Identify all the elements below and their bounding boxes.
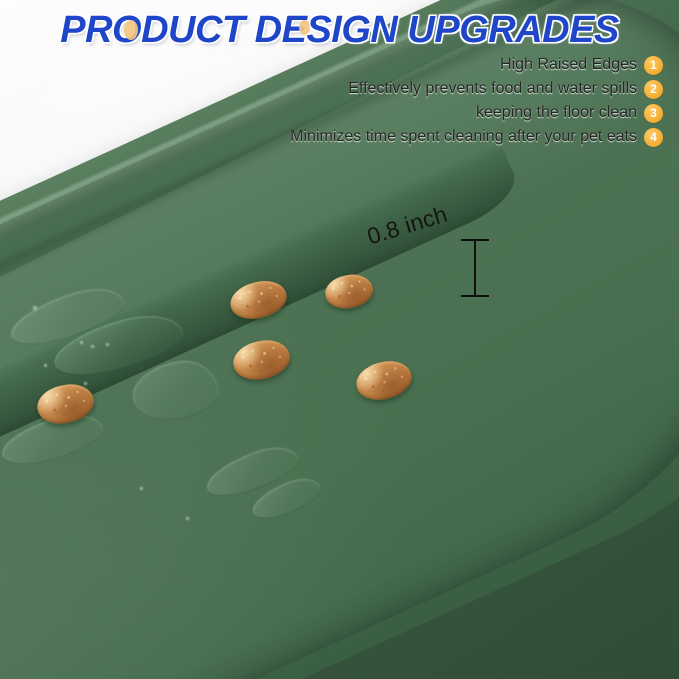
- product-infographic: 0.8 inch PRODUCT DESIGN UPGRADES High Ra…: [0, 0, 679, 679]
- water-droplet: [106, 343, 109, 346]
- feature-number-badge: 2: [644, 80, 663, 99]
- water-droplet: [33, 306, 37, 310]
- water-droplet: [140, 487, 143, 490]
- feature-label: Minimizes time spent cleaning after your…: [290, 126, 637, 148]
- feature-label: keeping the floor clean: [476, 102, 637, 124]
- dimension-bracket-icon: [455, 232, 495, 304]
- feature-list-item: High Raised Edges1: [23, 54, 663, 76]
- feature-list-item: keeping the floor clean3: [23, 102, 663, 124]
- feature-list-item: Minimizes time spent cleaning after your…: [23, 126, 663, 148]
- water-droplet: [80, 341, 83, 344]
- feature-list: High Raised Edges1Effectively prevents f…: [23, 54, 663, 150]
- feature-label: High Raised Edges: [500, 54, 637, 76]
- feature-number-badge: 3: [644, 104, 663, 123]
- feature-list-item: Effectively prevents food and water spil…: [23, 78, 663, 100]
- page-title: PRODUCT DESIGN UPGRADES: [0, 8, 679, 52]
- feature-label: Effectively prevents food and water spil…: [348, 78, 637, 100]
- water-droplet: [44, 364, 47, 367]
- feature-number-badge: 4: [644, 128, 663, 147]
- water-droplet: [91, 345, 94, 348]
- feature-number-badge: 1: [644, 56, 663, 75]
- water-droplet: [84, 382, 87, 385]
- water-droplet: [186, 517, 189, 520]
